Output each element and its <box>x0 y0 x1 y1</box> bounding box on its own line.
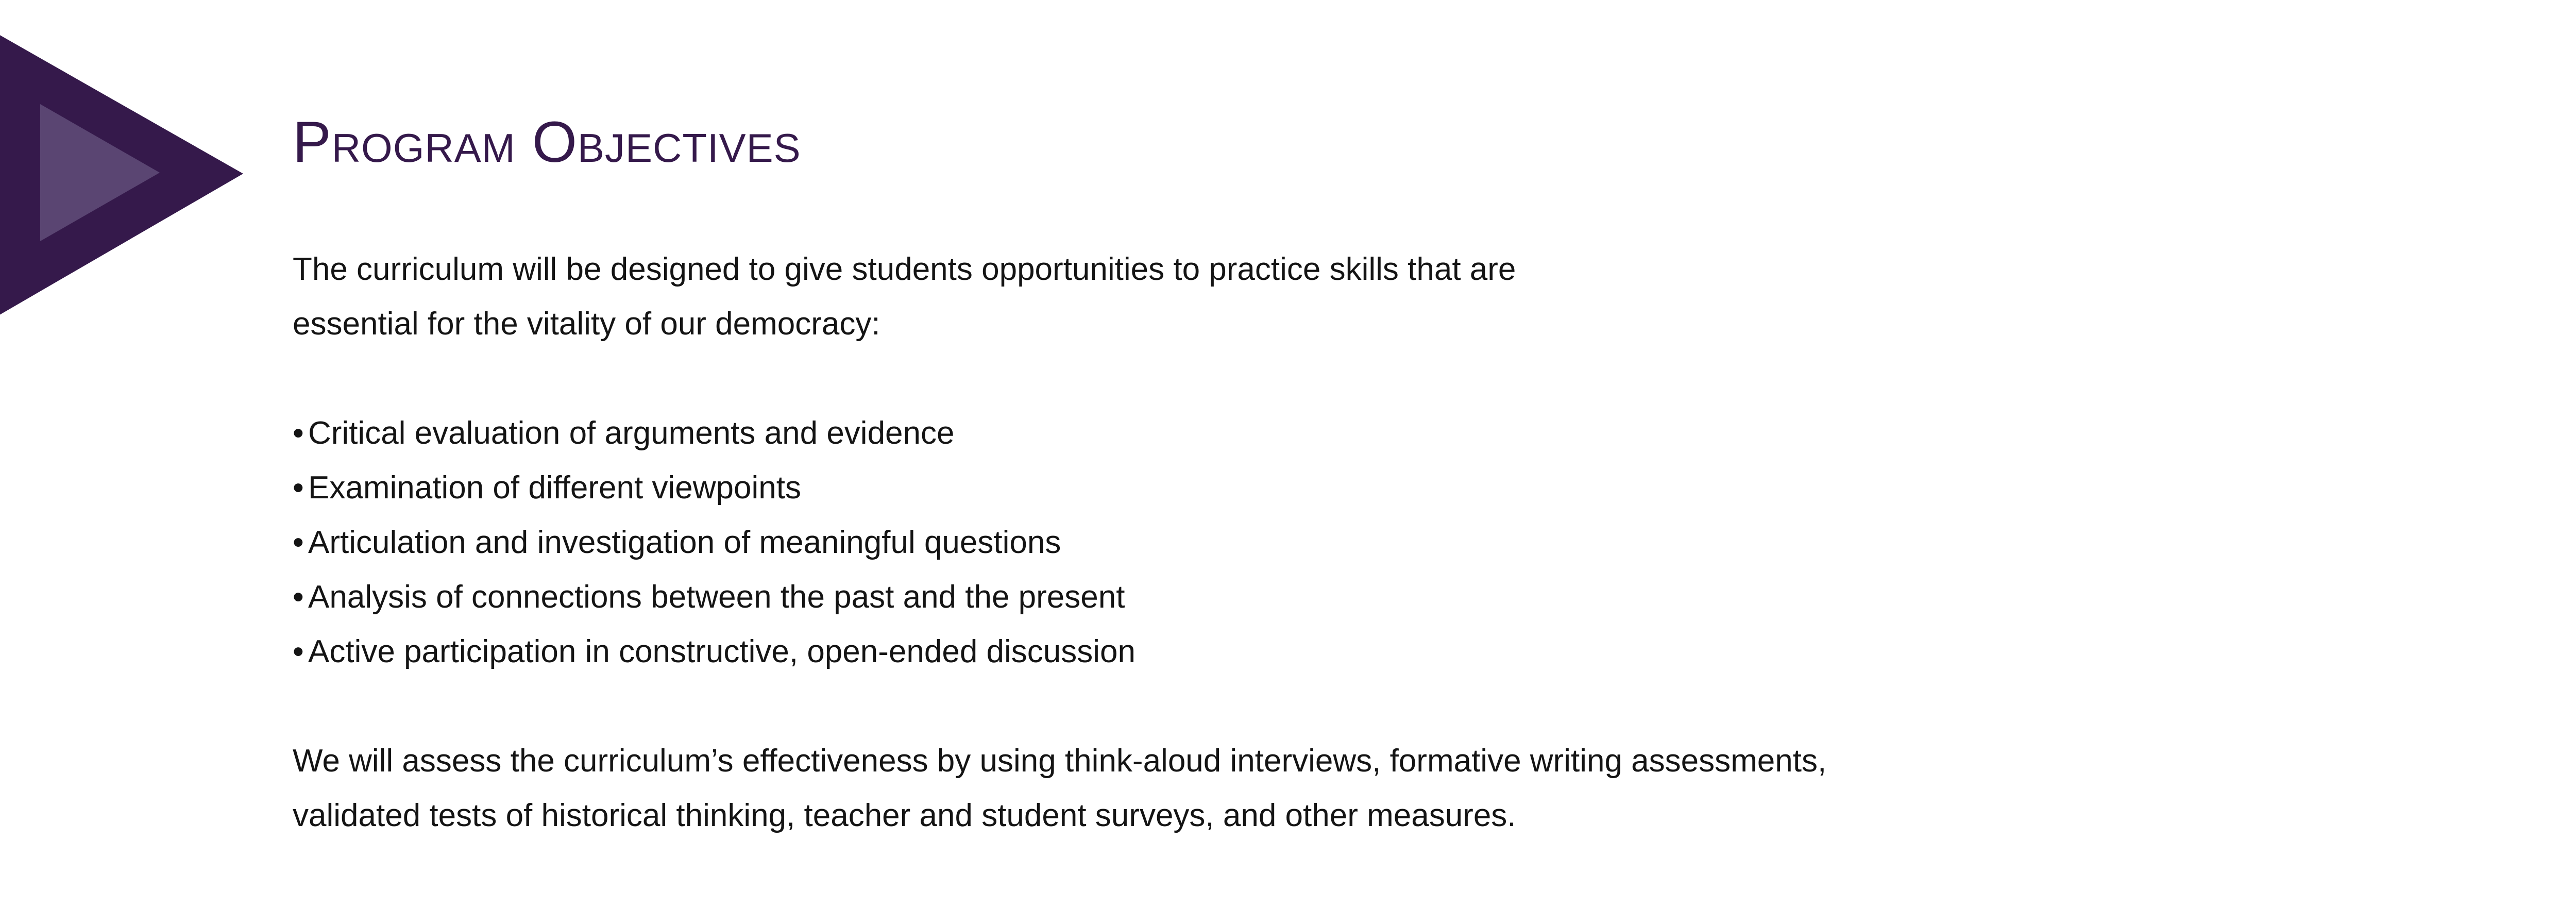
list-item: •Active participation in constructive, o… <box>293 625 2508 679</box>
objectives-bullet-list: •Critical evaluation of arguments and ev… <box>293 406 2508 679</box>
paragraph-spacer <box>293 351 2508 406</box>
paragraph-spacer <box>293 679 2508 734</box>
bullet-icon: • <box>293 625 308 679</box>
closing-paragraph: We will assess the curriculum’s effectiv… <box>293 734 2508 843</box>
list-item-label: Examination of different viewpoints <box>308 470 801 506</box>
list-item: •Critical evaluation of arguments and ev… <box>293 406 2508 461</box>
body-text-block: The curriculum will be designed to give … <box>293 242 2508 843</box>
list-item-label: Critical evaluation of arguments and evi… <box>308 415 955 451</box>
intro-paragraph: The curriculum will be designed to give … <box>293 242 2508 351</box>
list-item-label: Active participation in constructive, op… <box>308 634 1136 669</box>
play-triangle-icon <box>0 0 252 350</box>
outer-triangle-shape <box>0 0 243 350</box>
bullet-icon: • <box>293 515 308 570</box>
list-item: •Analysis of connections between the pas… <box>293 570 2508 625</box>
inner-triangle-shape <box>40 104 160 241</box>
bullet-icon: • <box>293 570 308 625</box>
list-item-label: Articulation and investigation of meanin… <box>308 525 1061 560</box>
page-title: Program Objectives <box>293 111 801 173</box>
bullet-icon: • <box>293 461 308 515</box>
list-item: •Examination of different viewpoints <box>293 461 2508 515</box>
list-item-label: Analysis of connections between the past… <box>308 579 1125 615</box>
bullet-icon: • <box>293 406 308 461</box>
slide-canvas: Program Objectives The curriculum will b… <box>0 0 2576 907</box>
list-item: •Articulation and investigation of meani… <box>293 515 2508 570</box>
